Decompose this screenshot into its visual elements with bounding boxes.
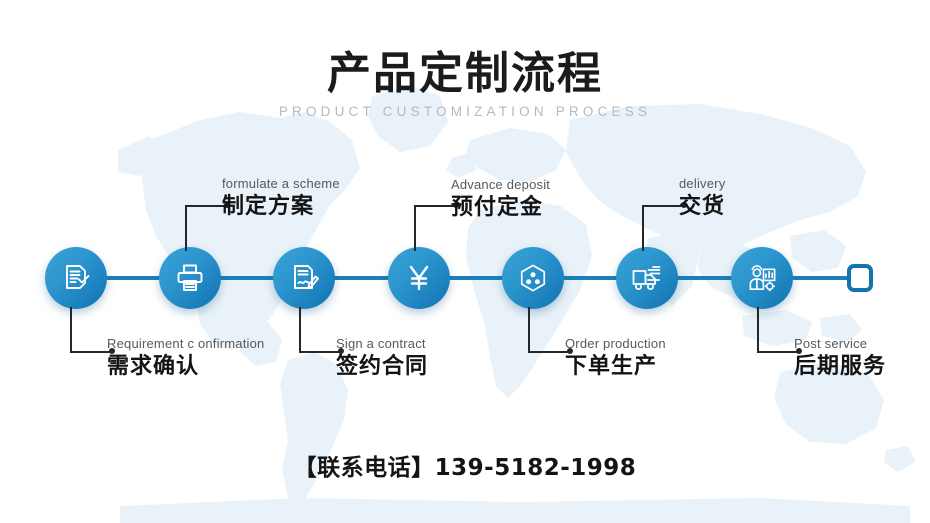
timeline-endcap	[847, 264, 873, 292]
step-node-3[interactable]	[273, 247, 335, 309]
printer-icon	[174, 262, 206, 294]
hexagon-dots-icon	[518, 263, 548, 293]
step-node-2[interactable]	[159, 247, 221, 309]
step-label-3-en: Sign a contract	[336, 336, 428, 352]
step-label-4-en: Advance deposit	[451, 177, 550, 193]
header: 产品定制流程 PRODUCT CUSTOMIZATION PROCESS	[0, 48, 930, 119]
step-label-6-cn: 交货	[679, 193, 725, 221]
step-node-5[interactable]	[502, 247, 564, 309]
document-check-icon	[60, 262, 92, 294]
step-label-1: Requirement c onfirmation 需求确认	[107, 336, 264, 381]
step-label-7: Post service 后期服务	[794, 336, 886, 381]
page-title: 产品定制流程	[0, 48, 930, 100]
step-node-4[interactable]	[388, 247, 450, 309]
step-label-2: formulate a scheme 制定方案	[222, 176, 340, 221]
step-label-7-en: Post service	[794, 336, 886, 352]
step-label-5-en: Order production	[565, 336, 666, 352]
step-label-1-cn: 需求确认	[107, 353, 264, 381]
step-label-4-cn: 预付定金	[451, 194, 550, 222]
timeline-endcap-dot	[854, 272, 867, 285]
step-label-6: delivery 交货	[679, 176, 725, 221]
step-label-2-cn: 制定方案	[222, 193, 340, 221]
delivery-truck-icon	[631, 262, 663, 294]
step-label-5: Order production 下单生产	[565, 336, 666, 381]
step-label-1-en: Requirement c onfirmation	[107, 336, 264, 352]
infographic-canvas: 产品定制流程 PRODUCT CUSTOMIZATION PROCESS Req…	[0, 0, 930, 523]
step-label-7-cn: 后期服务	[794, 353, 886, 381]
step-label-3-cn: 签约合同	[336, 353, 428, 381]
contact-phone: 【联系电话】139-5182-1998	[0, 448, 930, 482]
step-node-1[interactable]	[45, 247, 107, 309]
step-label-3: Sign a contract 签约合同	[336, 336, 428, 381]
step-node-6[interactable]	[616, 247, 678, 309]
yuan-currency-icon	[403, 262, 435, 294]
page-subtitle: PRODUCT CUSTOMIZATION PROCESS	[0, 104, 930, 119]
step-label-6-en: delivery	[679, 176, 725, 192]
step-label-4: Advance deposit 预付定金	[451, 177, 550, 222]
step-node-7[interactable]	[731, 247, 793, 309]
step-label-2-en: formulate a scheme	[222, 176, 340, 192]
step-label-5-cn: 下单生产	[565, 353, 666, 381]
service-technician-icon	[747, 263, 778, 294]
contract-sign-icon	[288, 262, 320, 294]
